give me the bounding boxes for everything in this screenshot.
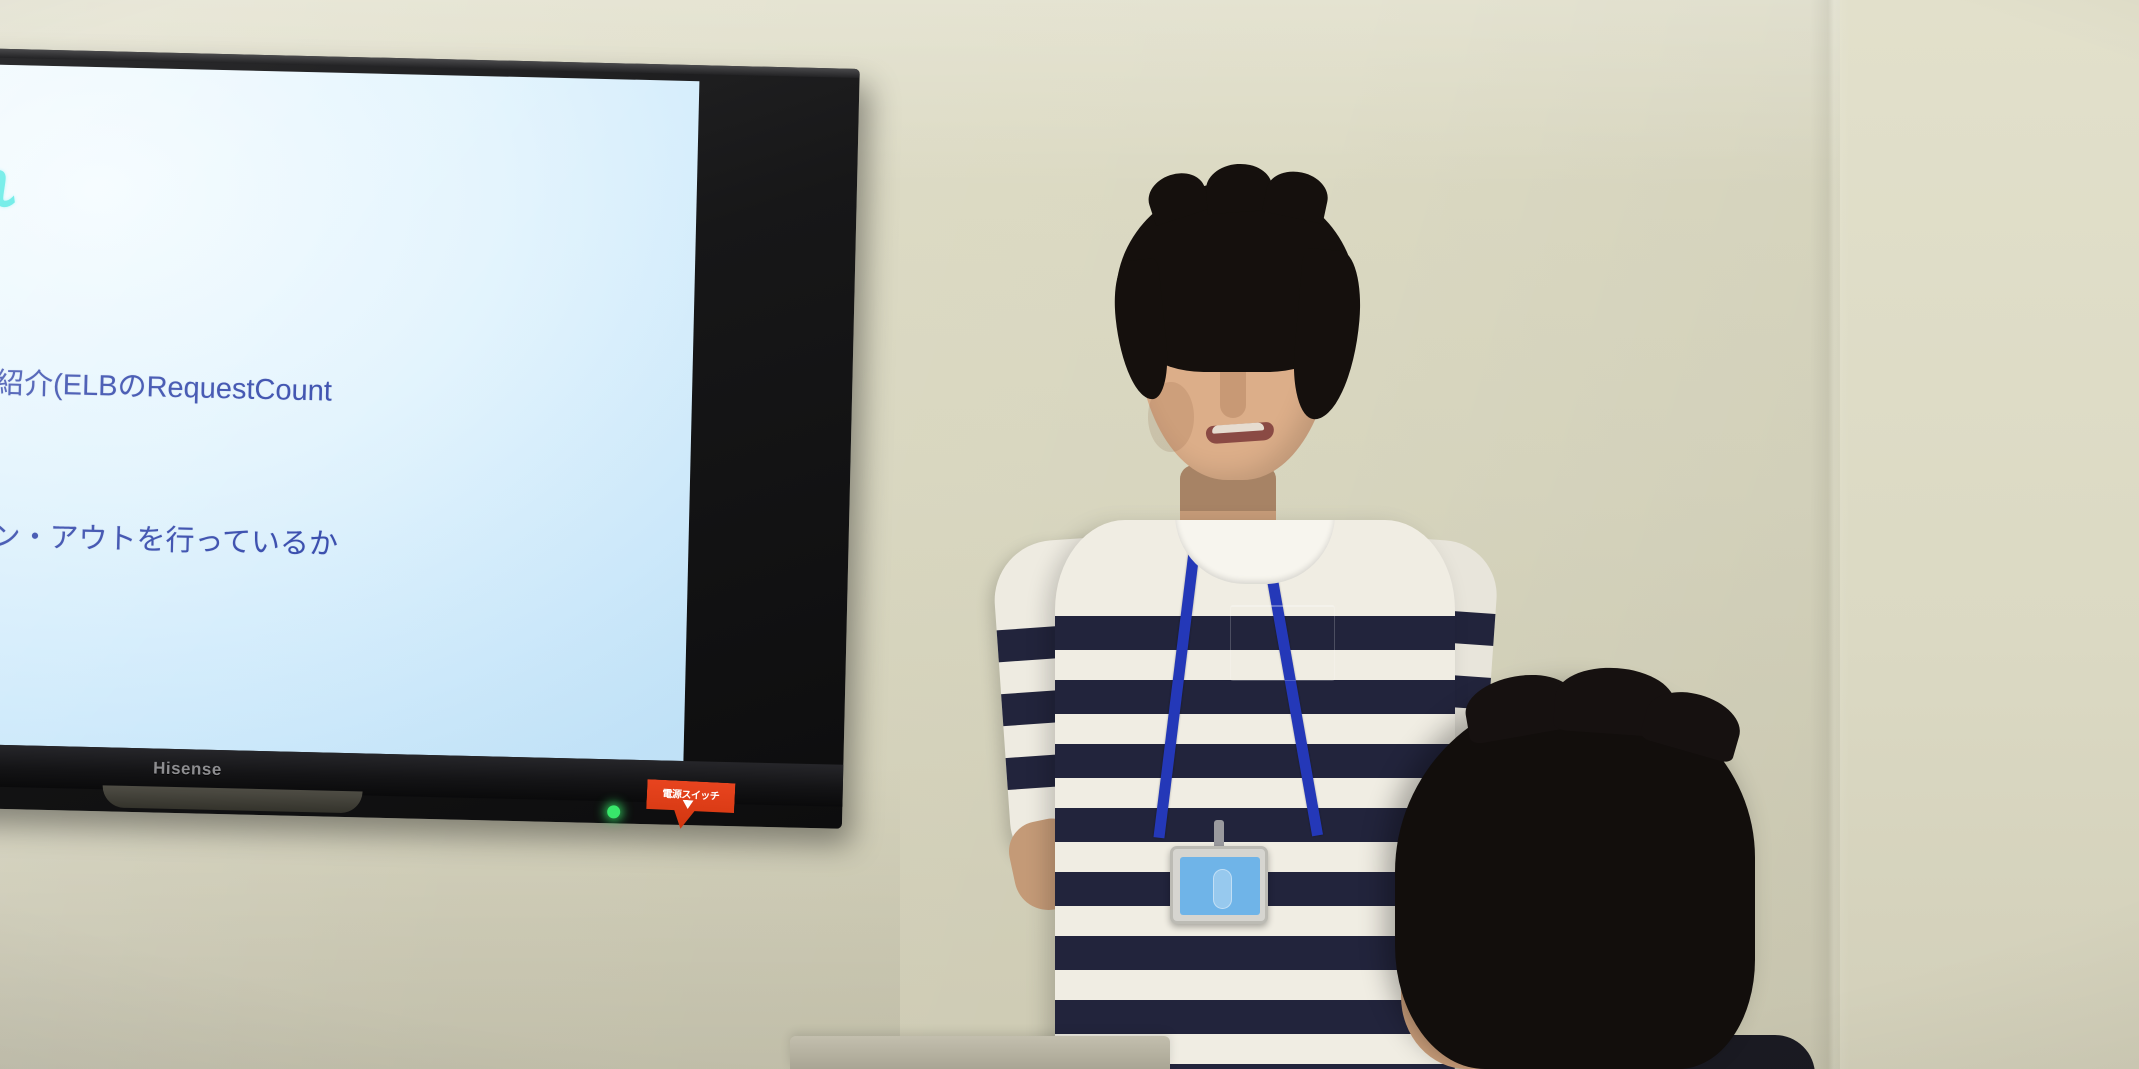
presenter-nose <box>1220 370 1246 418</box>
slide-bullet-2: Withのサービス紹介(ELBのRequestCount <box>0 365 332 407</box>
tv-screen: いな流れ 介 Withのサービス紹介(ELBのRequestCount て） う… <box>0 64 699 761</box>
id-badge-card <box>1180 857 1260 915</box>
badge-thumb-slot <box>1213 869 1232 909</box>
audience-person <box>1395 690 1815 1069</box>
tv-brand-logo: Hisense <box>153 759 222 781</box>
room-wall-right-panel <box>1840 0 2139 1069</box>
presentation-slide: いな流れ 介 Withのサービス紹介(ELBのRequestCount て） う… <box>0 64 699 761</box>
power-switch-sticker: 電源スイッチ <box>645 779 735 831</box>
slide-bullet-4: うにスケールイン・アウトを行っているか <box>0 518 338 560</box>
id-badge-holder <box>1170 846 1268 924</box>
foreground-table-edge <box>790 1036 1170 1069</box>
slide-body: 介 Withのサービス紹介(ELBのRequestCount て） うにスケール… <box>0 260 695 281</box>
slide-title: いな流れ <box>0 138 698 238</box>
wall-mounted-television[interactable]: いな流れ 介 Withのサービス紹介(ELBのRequestCount て） う… <box>0 48 860 829</box>
presenter-hair-right-side <box>1289 248 1366 423</box>
presenter-shirt-pocket <box>1230 605 1335 681</box>
presentation-photo-scene: いな流れ 介 Withのサービス紹介(ELBのRequestCount て） う… <box>0 0 2139 1069</box>
wall-corner-seam <box>1810 0 1850 1069</box>
